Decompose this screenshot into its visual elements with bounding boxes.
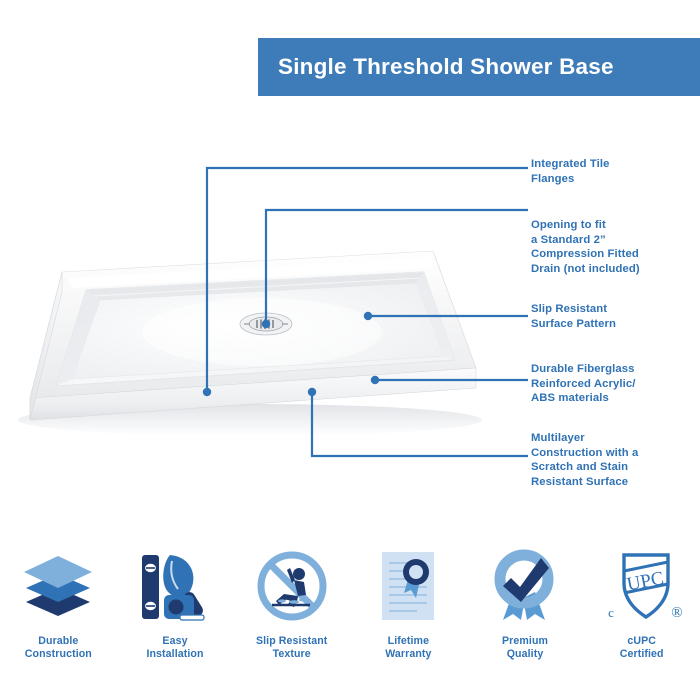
feature-cupc-certified: UPC c ® cUPC Certified bbox=[583, 540, 700, 685]
callout-line: Construction with a bbox=[531, 446, 696, 461]
layers-icon bbox=[20, 540, 96, 632]
certificate-icon bbox=[373, 540, 443, 632]
no-slip-icon bbox=[254, 540, 330, 632]
feature-label-line: cUPC bbox=[620, 635, 664, 648]
feature-label-line: Premium bbox=[502, 635, 548, 648]
feature-label-line: Durable bbox=[25, 635, 92, 648]
callout-line: Integrated Tile bbox=[531, 157, 696, 172]
feature-easy-installation: Easy Installation bbox=[117, 540, 234, 685]
feature-durable-construction: Durable Construction bbox=[0, 540, 117, 685]
feature-label: Premium Quality bbox=[502, 635, 548, 662]
feature-label: cUPC Certified bbox=[620, 635, 664, 662]
callout-line: Scratch and Stain bbox=[531, 460, 696, 475]
feature-label-line: Slip Resistant bbox=[256, 635, 327, 648]
callout-line: Drain (not included) bbox=[531, 262, 700, 277]
upc-shield-icon: UPC c ® bbox=[600, 540, 684, 632]
feature-label-line: Texture bbox=[256, 648, 327, 661]
feature-label: Easy Installation bbox=[146, 635, 203, 662]
callout-line: Compression Fitted bbox=[531, 247, 700, 262]
drain-grate bbox=[240, 313, 292, 335]
feature-premium-quality: Premium Quality bbox=[467, 540, 584, 685]
feature-label-line: Construction bbox=[25, 648, 92, 661]
award-check-icon bbox=[489, 540, 561, 632]
header-banner: Single Threshold Shower Base bbox=[258, 38, 700, 96]
feature-label: Slip Resistant Texture bbox=[256, 635, 327, 662]
callout-label-integrated-tile-flanges: Integrated Tile Flanges bbox=[531, 157, 696, 186]
callout-label-multilayer-construction: Multilayer Construction with a Scratch a… bbox=[531, 431, 696, 489]
callout-line: a Standard 2” bbox=[531, 233, 700, 248]
callout-label-durable-materials: Durable Fiberglass Reinforced Acrylic/ A… bbox=[531, 362, 699, 406]
feature-label: Lifetime Warranty bbox=[385, 635, 431, 662]
feature-label-line: Quality bbox=[502, 648, 548, 661]
callout-line: Surface Pattern bbox=[531, 317, 696, 332]
callout-label-slip-resistant-surface: Slip Resistant Surface Pattern bbox=[531, 302, 696, 331]
callout-line: Multilayer bbox=[531, 431, 696, 446]
feature-badge-row: Durable Construction bbox=[0, 540, 700, 685]
feature-lifetime-warranty: Lifetime Warranty bbox=[350, 540, 467, 685]
feature-slip-resistant-texture: Slip Resistant Texture bbox=[233, 540, 350, 685]
feature-label-line: Installation bbox=[146, 648, 203, 661]
callout-line: ABS materials bbox=[531, 391, 699, 406]
callout-line: Opening to fit bbox=[531, 218, 700, 233]
feature-label-line: Warranty bbox=[385, 648, 431, 661]
callout-label-drain-opening: Opening to fit a Standard 2” Compression… bbox=[531, 218, 700, 276]
feature-label: Durable Construction bbox=[25, 635, 92, 662]
callout-line: Resistant Surface bbox=[531, 475, 696, 490]
callout-line: Durable Fiberglass bbox=[531, 362, 699, 377]
registered-mark-text: ® bbox=[671, 605, 682, 621]
tools-icon bbox=[136, 540, 214, 632]
page-title: Single Threshold Shower Base bbox=[278, 54, 614, 80]
feature-label-line: Lifetime bbox=[385, 635, 431, 648]
callout-line: Reinforced Acrylic/ bbox=[531, 377, 699, 392]
upc-mark-text: UPC bbox=[625, 568, 665, 596]
callout-line: Flanges bbox=[531, 172, 696, 187]
feature-label-line: Easy bbox=[146, 635, 203, 648]
feature-label-line: Certified bbox=[620, 648, 664, 661]
callout-line: Slip Resistant bbox=[531, 302, 696, 317]
upc-prefix-text: c bbox=[608, 605, 614, 620]
